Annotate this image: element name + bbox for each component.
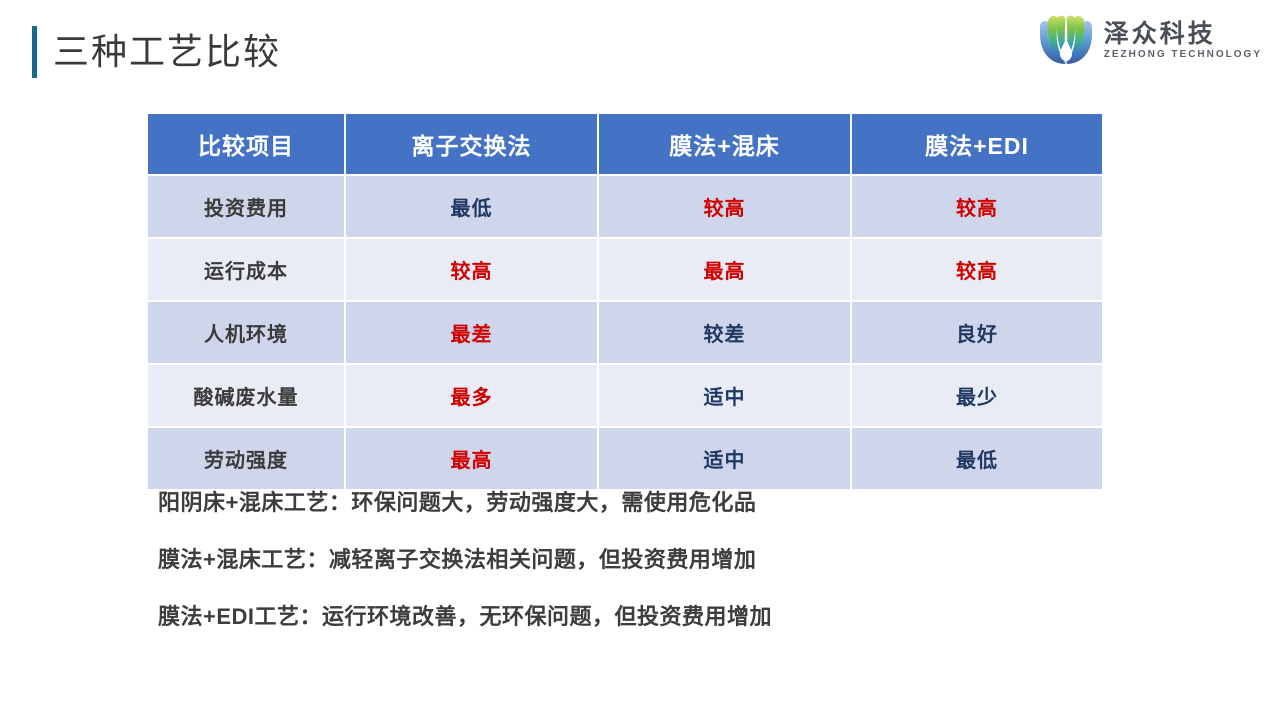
column-header-membrane-mixedbed: 膜法+混床 (599, 114, 852, 176)
table-row: 运行成本 较高 最高 较高 (148, 239, 1102, 302)
logo-name-en: ZEZHONG TECHNOLOGY (1104, 48, 1262, 61)
row-label: 投资费用 (148, 176, 346, 239)
row-value: 最差 (346, 302, 599, 365)
page-title: 三种工艺比较 (53, 34, 281, 70)
column-header-item: 比较项目 (148, 114, 346, 176)
table-row: 酸碱废水量 最多 适中 最少 (148, 365, 1102, 428)
slide-title-block: 三种工艺比较 (32, 26, 281, 78)
row-value: 最少 (852, 365, 1102, 428)
row-label: 运行成本 (148, 239, 346, 302)
column-header-ion-exchange: 离子交换法 (346, 114, 599, 176)
title-accent-bar (32, 26, 37, 78)
comparison-table-wrapper: 比较项目 离子交换法 膜法+混床 膜法+EDI 投资费用 最低 较高 较高 运行… (148, 114, 1102, 489)
summary-notes: 阳阴床+混床工艺：环保问题大，劳动强度大，需使用危化品 膜法+混床工艺：减轻离子… (158, 492, 1158, 628)
row-label: 劳动强度 (148, 428, 346, 489)
row-label: 酸碱废水量 (148, 365, 346, 428)
row-value: 最低 (346, 176, 599, 239)
lotus-droplet-icon (1036, 12, 1096, 70)
row-value: 较差 (599, 302, 852, 365)
row-value: 适中 (599, 365, 852, 428)
logo-wordmark: 泽众科技 ZEZHONG TECHNOLOGY (1104, 21, 1262, 61)
row-value: 较高 (852, 239, 1102, 302)
column-header-membrane-edi: 膜法+EDI (852, 114, 1102, 176)
company-logo: 泽众科技 ZEZHONG TECHNOLOGY (1036, 10, 1262, 72)
row-value: 适中 (599, 428, 852, 489)
note-line-1: 阳阴床+混床工艺：环保问题大，劳动强度大，需使用危化品 (158, 492, 1158, 514)
table-row: 劳动强度 最高 适中 最低 (148, 428, 1102, 489)
note-line-3: 膜法+EDI工艺：运行环境改善，无环保问题，但投资费用增加 (158, 606, 1158, 628)
row-value: 最高 (599, 239, 852, 302)
row-value: 较高 (852, 176, 1102, 239)
row-value: 较高 (346, 239, 599, 302)
logo-name-cn: 泽众科技 (1104, 21, 1262, 47)
row-value: 良好 (852, 302, 1102, 365)
row-value: 最高 (346, 428, 599, 489)
row-label: 人机环境 (148, 302, 346, 365)
row-value: 最低 (852, 428, 1102, 489)
comparison-table: 比较项目 离子交换法 膜法+混床 膜法+EDI 投资费用 最低 较高 较高 运行… (148, 114, 1102, 489)
table-header-row: 比较项目 离子交换法 膜法+混床 膜法+EDI (148, 114, 1102, 176)
note-line-2: 膜法+混床工艺：减轻离子交换法相关问题，但投资费用增加 (158, 549, 1158, 571)
table-row: 人机环境 最差 较差 良好 (148, 302, 1102, 365)
table-row: 投资费用 最低 较高 较高 (148, 176, 1102, 239)
row-value: 较高 (599, 176, 852, 239)
row-value: 最多 (346, 365, 599, 428)
